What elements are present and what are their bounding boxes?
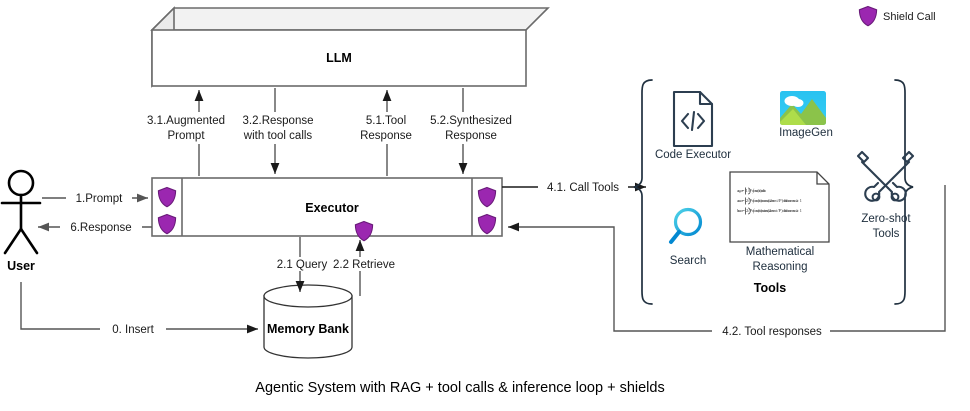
legend-shield-icon: [859, 7, 876, 26]
edge-tool-response: 5.1.Tool Response: [345, 90, 433, 176]
code-document-icon: [674, 92, 712, 146]
svg-text:for n ≥ 1: for n ≥ 1: [786, 208, 803, 213]
tool-label-zero-shot-l1: Zero-shot: [861, 213, 911, 225]
tool-label-zero-shot-l2: Tools: [873, 228, 900, 240]
tool-mathematical-reasoning[interactable]: a₀ = 1/P ∫ x(t)dt aₙ = 2/P ∫ x(t)cos(2πn…: [730, 172, 829, 273]
memory-bank-node[interactable]: Memory Bank: [264, 285, 352, 358]
edge-label-prompt: 1.Prompt: [76, 193, 123, 205]
user-right-leg: [21, 229, 37, 253]
edge-label-tool-responses: 4.2. Tool responses: [722, 326, 822, 338]
edge-label-augmented-prompt-l2: Prompt: [167, 130, 205, 142]
edge-label-synthesized-response-l1: 5.2.Synthesized: [430, 115, 512, 127]
tool-imagegen[interactable]: ImageGen: [779, 91, 833, 139]
svg-text:for n ≥ 1: for n ≥ 1: [786, 198, 803, 203]
tool-code-executor[interactable]: Code Executor: [655, 92, 731, 161]
edge-response: 6.Response: [38, 219, 152, 234]
image-picture-icon: [780, 91, 826, 125]
executor-label: Executor: [305, 201, 359, 215]
llm-node[interactable]: LLM: [152, 8, 548, 86]
edge-synthesized-response: 5.2.Synthesized Response: [420, 88, 542, 174]
user-head: [9, 171, 33, 195]
diagram-caption: Agentic System with RAG + tool calls & i…: [255, 380, 664, 396]
edge-call-tools: 4.1. Call Tools: [502, 180, 646, 195]
edge-label-call-tools: 4.1. Call Tools: [547, 182, 619, 194]
tools-group-label: Tools: [754, 281, 786, 295]
tool-label-imagegen: ImageGen: [779, 127, 833, 139]
shield-icon-in-bottom-center: [355, 222, 372, 241]
edge-label-tool-response-l2: Response: [360, 130, 412, 142]
edge-label-synthesized-response-l2: Response: [445, 130, 497, 142]
edge-response-tool-calls: 3.2.Response with tool calls: [238, 88, 360, 174]
edge-label-tool-response-l1: 5.1.Tool: [366, 115, 406, 127]
edge-query: 2.1 Query: [275, 237, 327, 292]
edge-label-retrieve: 2.2 Retrieve: [333, 259, 395, 271]
formula-document-icon: a₀ = 1/P ∫ x(t)dt aₙ = 2/P ∫ x(t)cos(2πn…: [730, 172, 829, 242]
user-actor[interactable]: User: [2, 171, 40, 273]
edge-insert: 0. Insert: [21, 282, 258, 336]
llm-box-top-face: [152, 8, 548, 30]
architecture-diagram: LLM Executor Memory Bank User 1.Prompt: [0, 0, 970, 411]
edge-tool-responses: 4.2. Tool responses: [508, 185, 945, 339]
edge-label-response: 6.Response: [70, 222, 131, 234]
diagram-canvas: LLM Executor Memory Bank User 1.Prompt: [0, 0, 970, 411]
edge-label-query: 2.1 Query: [277, 259, 328, 271]
tool-label-code-executor: Code Executor: [655, 149, 731, 161]
executor-node[interactable]: Executor: [152, 178, 502, 241]
edge-retrieve: 2.2 Retrieve: [333, 240, 395, 296]
tool-label-math-reasoning-l2: Reasoning: [753, 261, 808, 273]
edge-label-response-tool-calls-l2: with tool calls: [243, 130, 313, 142]
memory-bank-top: [264, 285, 352, 307]
tool-search[interactable]: Search: [670, 210, 706, 268]
legend-label: Shield Call: [883, 11, 936, 23]
tool-label-search: Search: [670, 255, 706, 267]
edge-label-augmented-prompt-l1: 3.1.Augmented: [147, 115, 225, 127]
user-label: User: [7, 259, 35, 273]
legend: Shield Call: [859, 7, 935, 26]
user-left-leg: [5, 229, 21, 253]
edge-label-response-tool-calls-l1: 3.2.Response: [243, 115, 314, 127]
edge-prompt: 1.Prompt: [42, 190, 148, 205]
memory-bank-label: Memory Bank: [267, 322, 349, 336]
magnifier-icon: [671, 210, 701, 243]
tool-label-math-reasoning-l1: Mathematical: [746, 246, 814, 258]
edge-label-insert: 0. Insert: [112, 324, 154, 336]
llm-label: LLM: [326, 51, 352, 65]
